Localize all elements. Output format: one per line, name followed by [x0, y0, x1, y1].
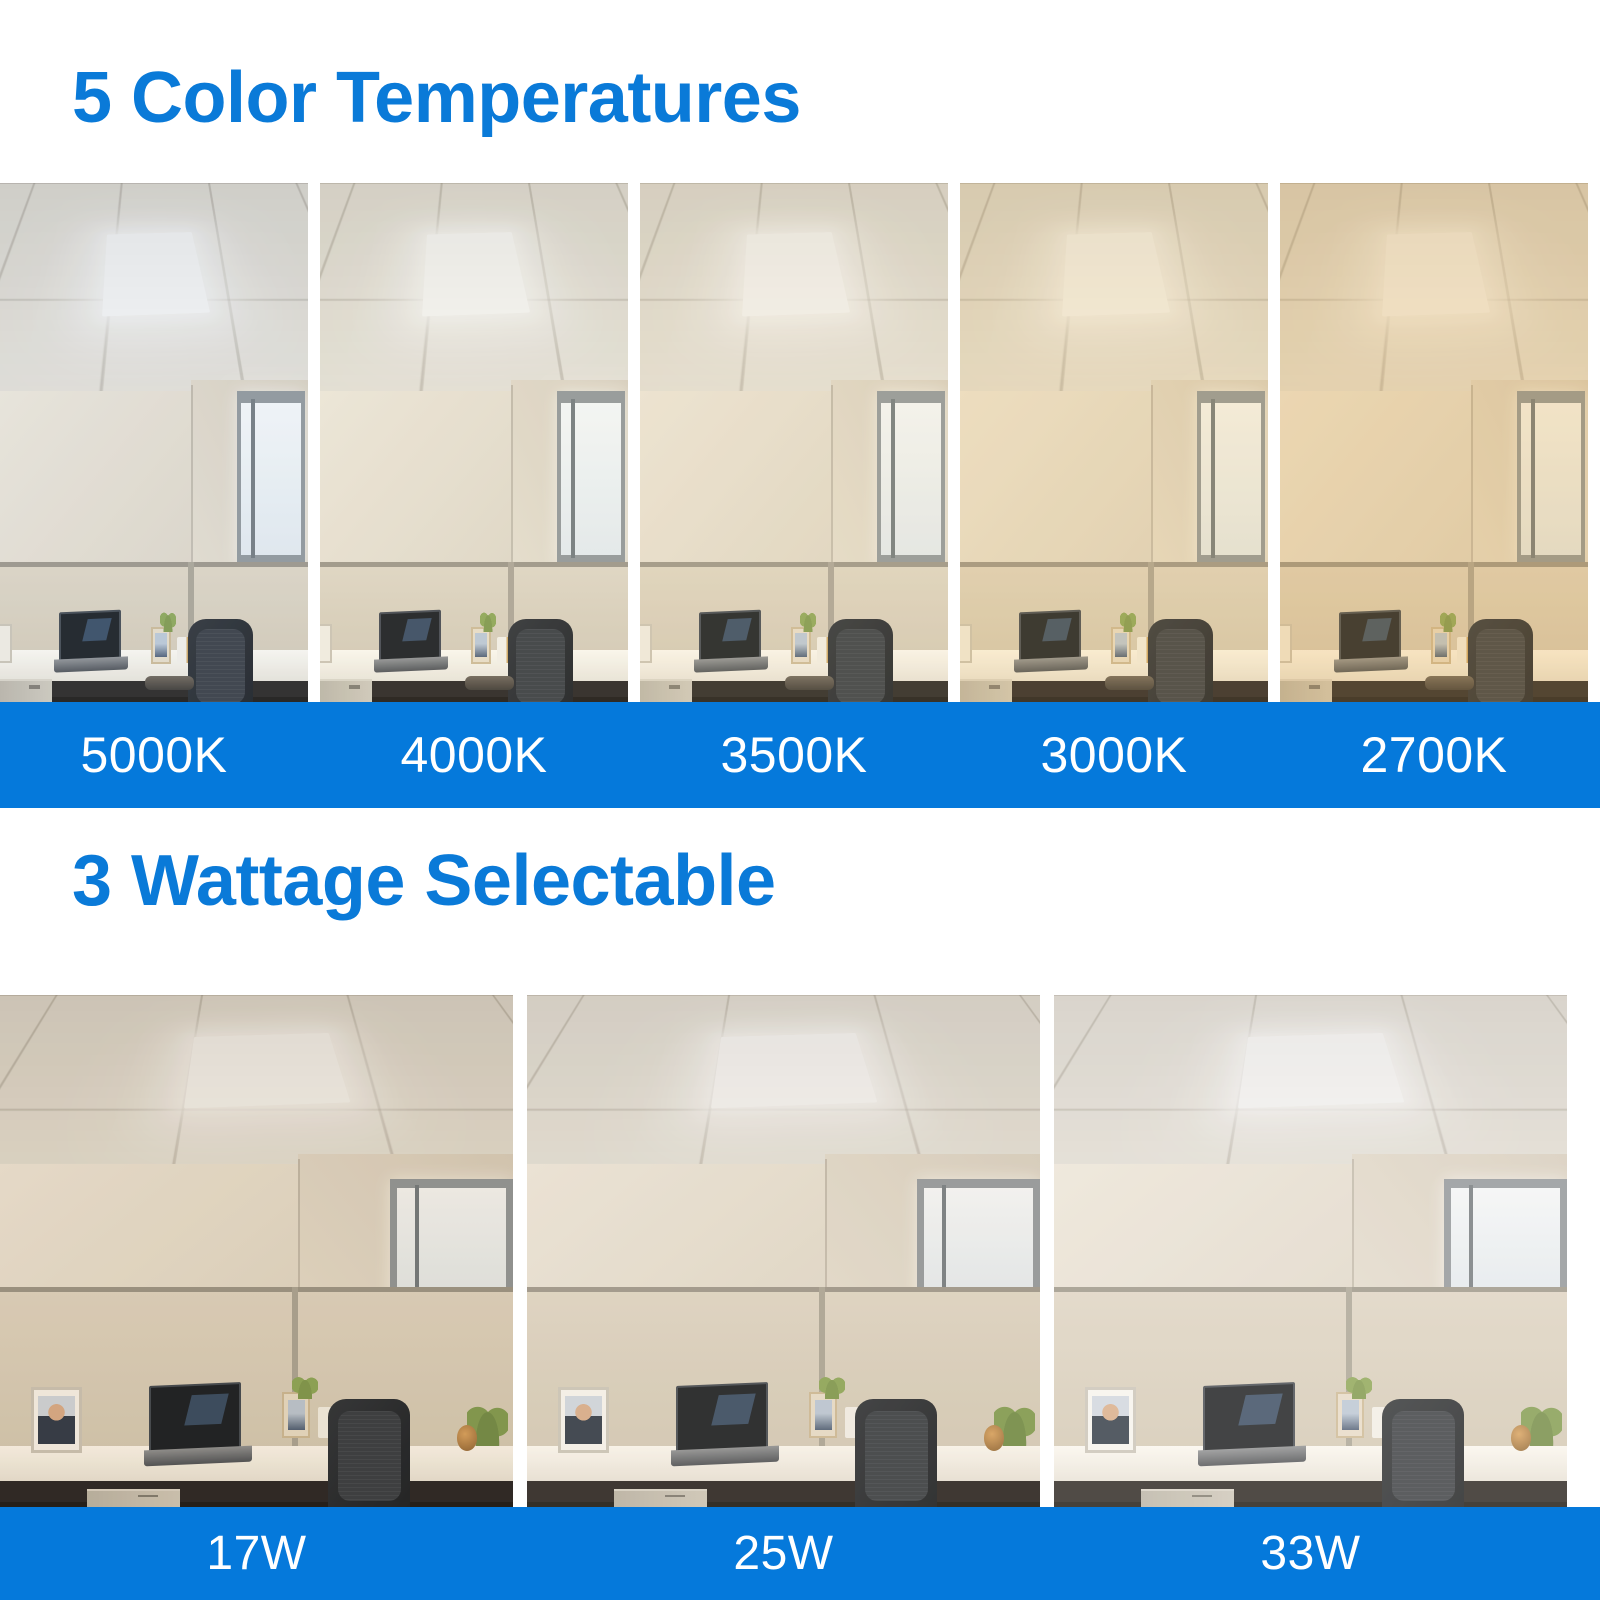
chair-armrest — [465, 676, 514, 689]
office-chair — [1148, 619, 1213, 702]
desk-picture-frame — [1431, 627, 1451, 664]
office-chair — [1382, 1399, 1464, 1507]
desk-picture-frame — [471, 627, 491, 664]
chair-mesh-back — [338, 1411, 400, 1501]
chair-mesh-back — [1392, 1411, 1454, 1501]
window — [877, 391, 945, 567]
cubicle-trim — [640, 562, 948, 567]
desk-plant — [1346, 1364, 1372, 1400]
cubicle-trim — [527, 1287, 1040, 1292]
picture-frame-edge — [960, 624, 972, 663]
office-chair — [328, 1399, 410, 1507]
window-mullion — [891, 399, 895, 558]
chair-mesh-back — [1476, 629, 1525, 702]
file-cabinet — [640, 679, 692, 702]
desk-plant — [1120, 601, 1135, 632]
color-temperature-label-3500k: 3500K — [640, 730, 948, 780]
office-chair — [188, 619, 253, 702]
wattage-label-33w: 33W — [1054, 1530, 1567, 1578]
office-scene-5000k — [0, 183, 308, 702]
chair-armrest — [145, 676, 194, 689]
window — [390, 1179, 513, 1302]
window-mullion — [1531, 399, 1535, 558]
chair-mesh-back — [865, 1411, 927, 1501]
laptop-screen — [676, 1382, 768, 1453]
scene-inner — [527, 995, 1040, 1507]
chair-armrest — [1425, 676, 1474, 689]
file-cabinet — [320, 679, 372, 702]
window — [1517, 391, 1585, 567]
desk-picture-frame — [1111, 627, 1131, 664]
window — [237, 391, 305, 567]
office-scene-3000k — [960, 183, 1268, 702]
infographic-page: 5 Color Temperatures 5000K4000K3500K3000… — [0, 0, 1600, 1600]
framed-portrait — [558, 1387, 609, 1454]
color-temperature-label-3000k: 3000K — [960, 730, 1268, 780]
wattage-image-strip — [0, 995, 1600, 1507]
color-temperature-label-5000k: 5000K — [0, 730, 308, 780]
desk-plant — [292, 1364, 318, 1400]
cabinet-handle — [665, 1495, 685, 1498]
office-scene-2700k — [1280, 183, 1588, 702]
window-mullion — [1469, 1185, 1473, 1296]
picture-frame-edge — [320, 624, 332, 663]
window-mullion — [1211, 399, 1215, 558]
window — [1197, 391, 1265, 567]
panel-gap — [1268, 183, 1280, 702]
file-cabinet — [1141, 1489, 1233, 1507]
scene-inner — [0, 995, 513, 1507]
file-cabinet — [1280, 679, 1332, 702]
cubicle-trim — [320, 562, 628, 567]
file-cabinet — [960, 679, 1012, 702]
panel-gap — [513, 995, 527, 1507]
desk-picture-frame — [791, 627, 811, 664]
framed-portrait — [1085, 1387, 1136, 1454]
window — [557, 391, 625, 567]
color-temperature-label-band: 5000K4000K3500K3000K2700K — [0, 702, 1600, 808]
framed-portrait — [31, 1387, 82, 1454]
window-mullion — [415, 1185, 419, 1296]
panel-gap — [1040, 995, 1054, 1507]
panel-gap — [628, 183, 640, 702]
office-chair — [1468, 619, 1533, 702]
far-pot — [1511, 1425, 1532, 1451]
picture-frame-edge — [1280, 624, 1292, 663]
desk-picture-frame — [151, 627, 171, 664]
file-cabinet — [87, 1489, 179, 1507]
window-mullion — [571, 399, 575, 558]
cabinet-handle — [29, 685, 41, 689]
file-cabinet — [614, 1489, 706, 1507]
file-cabinet — [0, 679, 52, 702]
desk-plant — [480, 601, 495, 632]
laptop-screen — [1019, 610, 1081, 662]
picture-frame-edge — [640, 624, 652, 663]
section-heading-color-temperatures: 5 Color Temperatures — [72, 62, 801, 134]
section-heading-wattage-selectable: 3 Wattage Selectable — [72, 845, 776, 917]
office-chair — [855, 1399, 937, 1507]
cabinet-handle — [1309, 685, 1321, 689]
picture-frame-edge — [0, 624, 12, 663]
cubicle-trim — [1280, 562, 1588, 567]
chair-mesh-back — [1156, 629, 1205, 702]
wattage-label-25w: 25W — [527, 1530, 1040, 1578]
desk-plant — [819, 1364, 845, 1400]
laptop-screen — [1339, 610, 1401, 662]
desk-plant — [160, 601, 175, 632]
laptop-screen — [379, 610, 441, 662]
chair-mesh-back — [516, 629, 565, 702]
cabinet-handle — [669, 685, 681, 689]
far-pot — [984, 1425, 1005, 1451]
cubicle-trim — [0, 1287, 513, 1292]
window-mullion — [942, 1185, 946, 1296]
scene-inner — [1054, 995, 1567, 1507]
window — [1444, 1179, 1567, 1302]
desk-plant — [800, 601, 815, 632]
cubicle-trim — [1054, 1287, 1567, 1292]
window — [917, 1179, 1040, 1302]
scene-inner — [640, 183, 948, 702]
laptop-screen — [149, 1382, 241, 1453]
chair-armrest — [1105, 676, 1154, 689]
office-scene-4000k — [320, 183, 628, 702]
color-temperature-label-4000k: 4000K — [320, 730, 628, 780]
cabinet-handle — [349, 685, 361, 689]
chair-mesh-back — [196, 629, 245, 702]
scene-inner — [1280, 183, 1588, 702]
chair-mesh-back — [836, 629, 885, 702]
office-chair — [508, 619, 573, 702]
cubicle-trim — [960, 562, 1268, 567]
panel-gap — [948, 183, 960, 702]
panel-gap — [308, 183, 320, 702]
window-mullion — [251, 399, 255, 558]
cabinet-handle — [138, 1495, 158, 1498]
wattage-label-17w: 17W — [0, 1530, 513, 1578]
scene-inner — [0, 183, 308, 702]
wattage-label-band: 17W25W33W — [0, 1507, 1600, 1600]
cabinet-handle — [989, 685, 1001, 689]
scene-inner — [320, 183, 628, 702]
office-scene-25w — [527, 995, 1040, 1507]
laptop-screen — [699, 610, 761, 662]
cubicle-trim — [0, 562, 308, 567]
color-temperature-image-strip — [0, 183, 1600, 702]
laptop-screen — [59, 610, 121, 662]
office-scene-33w — [1054, 995, 1567, 1507]
scene-inner — [960, 183, 1268, 702]
laptop-screen — [1203, 1382, 1295, 1453]
chair-armrest — [785, 676, 834, 689]
office-scene-3500k — [640, 183, 948, 702]
desk-plant — [1440, 601, 1455, 632]
color-temperature-label-2700k: 2700K — [1280, 730, 1588, 780]
office-scene-17w — [0, 995, 513, 1507]
office-chair — [828, 619, 893, 702]
far-pot — [457, 1425, 478, 1451]
cabinet-handle — [1192, 1495, 1212, 1498]
